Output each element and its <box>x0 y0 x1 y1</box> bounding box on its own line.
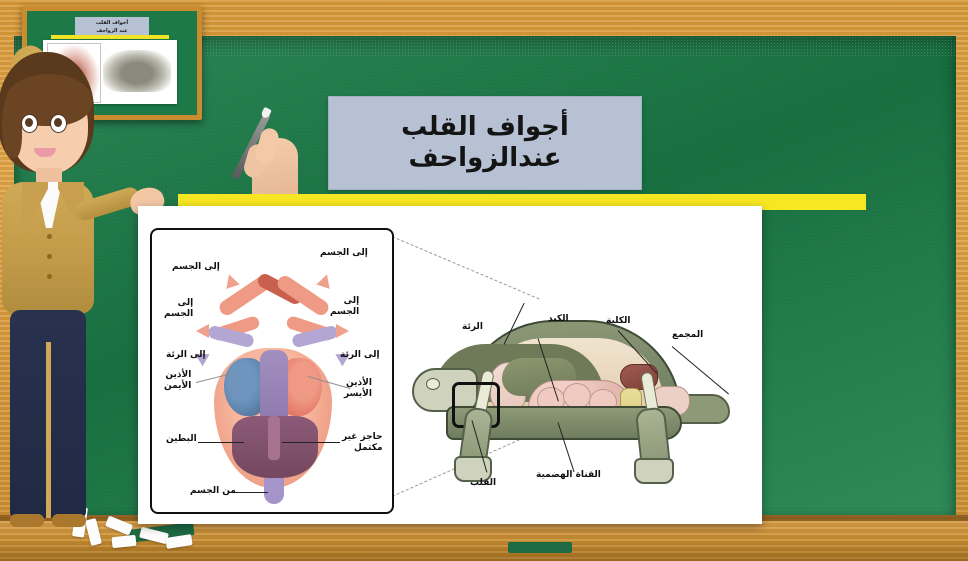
flow-arrow-up-left <box>222 272 239 289</box>
teacher-leg-gap <box>46 342 51 518</box>
zoom-connector-line-top <box>392 236 540 299</box>
turtle-label-heart: القلب <box>470 478 496 488</box>
mini-poster-title: أجواف القلب عند الزواحف <box>75 17 149 36</box>
heart-label-to-body-upper-right: إلى الجسم <box>320 248 368 258</box>
slide-title-line1: أجواف القلب <box>401 112 569 143</box>
heart-label-left-atrium: الأذين الأيسر <box>344 378 372 400</box>
incomplete-septum-shape <box>268 416 280 460</box>
turtle-label-liver: الكبد <box>548 314 569 324</box>
teacher-shoe-right <box>52 514 86 527</box>
writing-hand-with-pen <box>246 116 312 204</box>
turtle-hind-foot <box>634 458 674 484</box>
vena-cava-inflow <box>264 478 284 504</box>
mini-poster-title-line2: عند الزواحف <box>96 28 127 34</box>
flow-arrow-left-body <box>196 324 209 338</box>
heart-label-ventricle: البطين <box>166 434 197 444</box>
turtle-label-digestive-tract: القناة الهضمية <box>536 470 601 480</box>
teacher-shoe-left <box>10 514 44 527</box>
teacher-button <box>47 254 52 259</box>
mini-poster-title-line1: أجواف القلب <box>96 20 128 26</box>
heart-label-to-lung-left: إلى الرئة <box>166 350 206 360</box>
turtle-label-lung: الرئة <box>462 322 483 332</box>
lesson-slide-screenshot: أجواف القلب عند الزواحف <box>0 0 968 561</box>
teacher-button <box>47 234 52 239</box>
turtle-anatomy-illustration: الرئة الكبد الكلية المجمع القناة الهضمية… <box>406 310 736 492</box>
slide-content-panel: إلى الجسم إلى الجسم إلى الجسم إلى الجسم … <box>138 206 762 524</box>
leader-line-ventricle <box>198 442 244 443</box>
heart-label-from-body: من الجسم <box>190 486 236 496</box>
teacher-pupil-right <box>54 118 62 127</box>
slide-title-line2: عندالزواحف <box>408 143 561 174</box>
slide-title-box: أجواف القلب عندالزواحف <box>328 96 642 190</box>
flow-arrow-up-right <box>316 272 333 289</box>
board-eraser-secondary <box>508 542 572 553</box>
teacher-avatar <box>0 52 132 561</box>
turtle-label-kidney: الكلية <box>606 316 631 326</box>
teacher-pupil-left <box>25 118 33 127</box>
heart-label-incomplete-septum: حاجز غير مكتمل <box>342 432 383 454</box>
heart-label-to-body-left: إلى الجسم <box>164 298 193 320</box>
teacher-button <box>47 274 52 279</box>
flow-arrow-right-body <box>336 324 349 338</box>
teacher-hair-side <box>2 92 22 158</box>
mini-poster-accent-bar <box>51 35 169 39</box>
heart-diagram-inset: إلى الجسم إلى الجسم إلى الجسم إلى الجسم … <box>150 228 394 514</box>
heart-label-to-lung-right: إلى الرئة <box>340 350 380 360</box>
heart-label-to-body-right: إلى الجسم <box>330 296 359 318</box>
turtle-eye <box>426 378 440 390</box>
leader-line-septum <box>282 442 340 443</box>
heart-label-to-body-upper-left: إلى الجسم <box>172 262 220 272</box>
heart-label-right-atrium: الأذين الأيمن <box>164 370 191 392</box>
turtle-label-cloaca: المجمع <box>672 330 703 340</box>
heart-central-vessels <box>260 350 288 426</box>
